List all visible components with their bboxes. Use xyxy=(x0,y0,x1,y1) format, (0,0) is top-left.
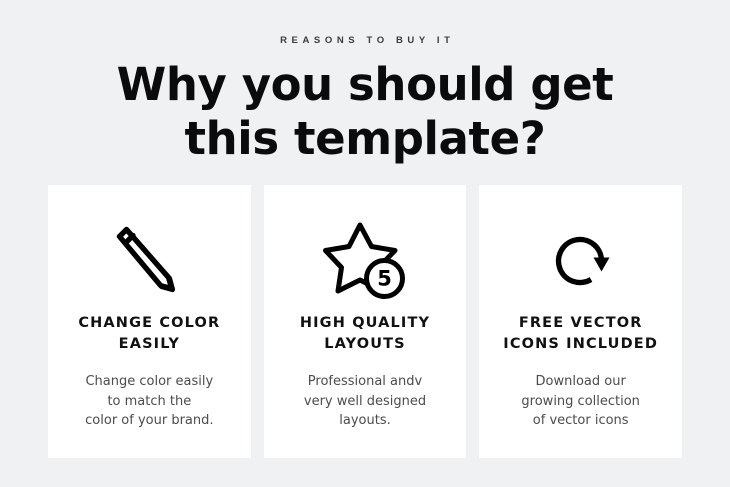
pencil-paintbrush-icon xyxy=(106,211,192,307)
eyebrow-label: REASONS TO BUY IT xyxy=(0,34,730,47)
card-description-line-3: layouts. xyxy=(304,411,426,431)
headline-line-2: this template? xyxy=(185,112,546,165)
card-description-line-2: to match the xyxy=(85,392,213,412)
badge-number: 5 xyxy=(377,267,392,291)
card-description-line-2: very well designed xyxy=(304,392,426,412)
card-description-line-2: growing collection xyxy=(521,392,640,412)
card-title: HIGH QUALITY LAYOUTS xyxy=(278,313,453,355)
card-title-line-1: FREE VECTOR xyxy=(519,315,643,331)
card-description-line-1: Professional andv xyxy=(304,372,426,392)
card-description-line-3: color of your brand. xyxy=(85,411,213,431)
feature-card-list: CHANGE COLOR EASILY Change color easily … xyxy=(48,185,682,458)
card-title-line-1: CHANGE xyxy=(78,315,153,331)
card-title-line-2: ICONS INCLUDED xyxy=(503,336,658,352)
card-title: CHANGE COLOR EASILY xyxy=(62,313,237,355)
card-title: FREE VECTOR ICONS INCLUDED xyxy=(493,313,668,355)
section-header: REASONS TO BUY IT Why you should get thi… xyxy=(0,0,730,166)
card-title-line-2: LAYOUTS xyxy=(324,336,406,352)
headline-line-1: Why you should get xyxy=(117,58,614,111)
star-rating-five-icon: 5 xyxy=(322,211,408,307)
card-description-line-1: Change color easily xyxy=(85,372,213,392)
card-description: Professional andv very well designed lay… xyxy=(304,372,426,431)
card-description-line-1: Download our xyxy=(521,372,640,392)
feature-card-change-color: CHANGE COLOR EASILY Change color easily … xyxy=(48,185,251,458)
card-description-line-3: of vector icons xyxy=(521,411,640,431)
page-title: Why you should get this template? xyxy=(0,58,730,166)
circular-refresh-arrow-icon xyxy=(538,211,624,307)
landing-section: REASONS TO BUY IT Why you should get thi… xyxy=(0,0,730,487)
feature-card-free-icons: FREE VECTOR ICONS INCLUDED Download our … xyxy=(479,185,682,458)
card-title-line-1: HIGH QUALITY xyxy=(300,315,430,331)
card-description: Change color easily to match the color o… xyxy=(85,372,213,431)
card-description: Download our growing collection of vecto… xyxy=(521,372,640,431)
feature-card-high-quality: 5 HIGH QUALITY LAYOUTS Professional andv… xyxy=(264,185,467,458)
